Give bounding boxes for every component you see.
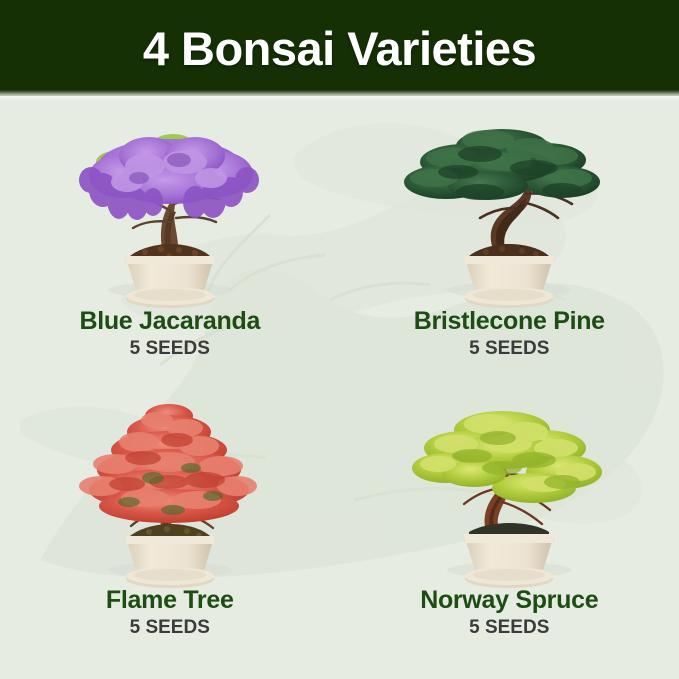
variety-card-flame-tree[interactable]: Flame Tree 5 SEEDS bbox=[0, 388, 340, 679]
variety-caption: Norway Spruce 5 SEEDS bbox=[420, 588, 598, 637]
jacaranda-bonsai-illustration bbox=[45, 104, 295, 309]
variety-seed-count: 5 SEEDS bbox=[469, 618, 549, 637]
flame-tree-bonsai-illustration bbox=[45, 392, 295, 588]
infographic-page: 4 Bonsai Varieties bbox=[0, 0, 679, 679]
spruce-bonsai-illustration bbox=[384, 392, 634, 588]
variety-caption: Bristlecone Pine 5 SEEDS bbox=[414, 309, 605, 358]
variety-name: Blue Jacaranda bbox=[79, 309, 260, 334]
variety-seed-count: 5 SEEDS bbox=[130, 618, 210, 637]
variety-grid: Blue Jacaranda 5 SEEDS bbox=[0, 96, 679, 679]
variety-caption: Blue Jacaranda 5 SEEDS bbox=[79, 309, 260, 358]
variety-name: Norway Spruce bbox=[420, 588, 598, 613]
header-banner: 4 Bonsai Varieties bbox=[0, 0, 679, 96]
variety-card-bristlecone-pine[interactable]: Bristlecone Pine 5 SEEDS bbox=[340, 96, 679, 388]
variety-seed-count: 5 SEEDS bbox=[469, 339, 549, 358]
pine-bonsai-illustration bbox=[384, 104, 634, 309]
page-title: 4 Bonsai Varieties bbox=[143, 25, 536, 72]
variety-seed-count: 5 SEEDS bbox=[130, 339, 210, 358]
variety-name: Flame Tree bbox=[106, 588, 234, 613]
variety-card-blue-jacaranda[interactable]: Blue Jacaranda 5 SEEDS bbox=[0, 96, 340, 388]
variety-card-norway-spruce[interactable]: Norway Spruce 5 SEEDS bbox=[340, 388, 679, 679]
variety-name: Bristlecone Pine bbox=[414, 309, 605, 334]
variety-caption: Flame Tree 5 SEEDS bbox=[106, 588, 234, 637]
